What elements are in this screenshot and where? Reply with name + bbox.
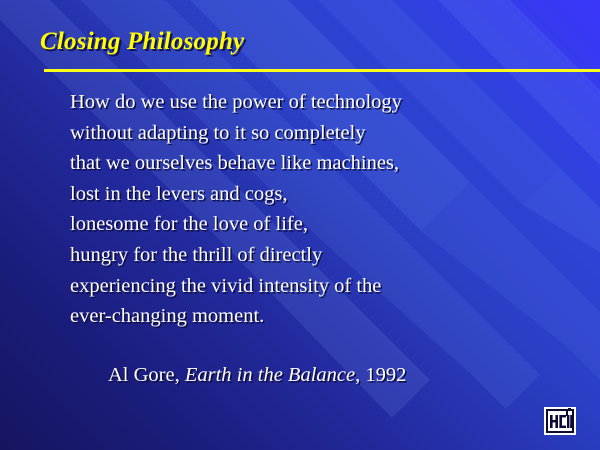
quote-line: experiencing the vivid intensity of the	[70, 271, 590, 302]
quote-line: ever-changing moment.	[70, 301, 590, 332]
hcil-logo-icon	[542, 404, 578, 438]
quote-line: How do we use the power of technology	[70, 87, 590, 118]
quote-attribution: Al Gore, Earth in the Balance, 1992	[108, 362, 406, 388]
quote-body: How do we use the power of technology wi…	[70, 87, 590, 332]
quote-line: without adapting to it so completely	[70, 118, 590, 149]
quote-line: hungry for the thrill of directly	[70, 240, 590, 271]
attribution-year: , 1992	[355, 364, 406, 386]
quote-line: lost in the levers and cogs,	[70, 179, 590, 210]
page-title: Closing Philosophy	[40, 28, 244, 56]
quote-line: lonesome for the love of life,	[70, 209, 590, 240]
attribution-book-title: Earth in the Balance	[185, 364, 355, 386]
quote-line: that we ourselves behave like machines,	[70, 148, 590, 179]
attribution-author: Al Gore,	[108, 364, 185, 386]
presentation-slide: Closing Philosophy How do we use the pow…	[0, 0, 600, 450]
title-divider	[44, 69, 600, 72]
